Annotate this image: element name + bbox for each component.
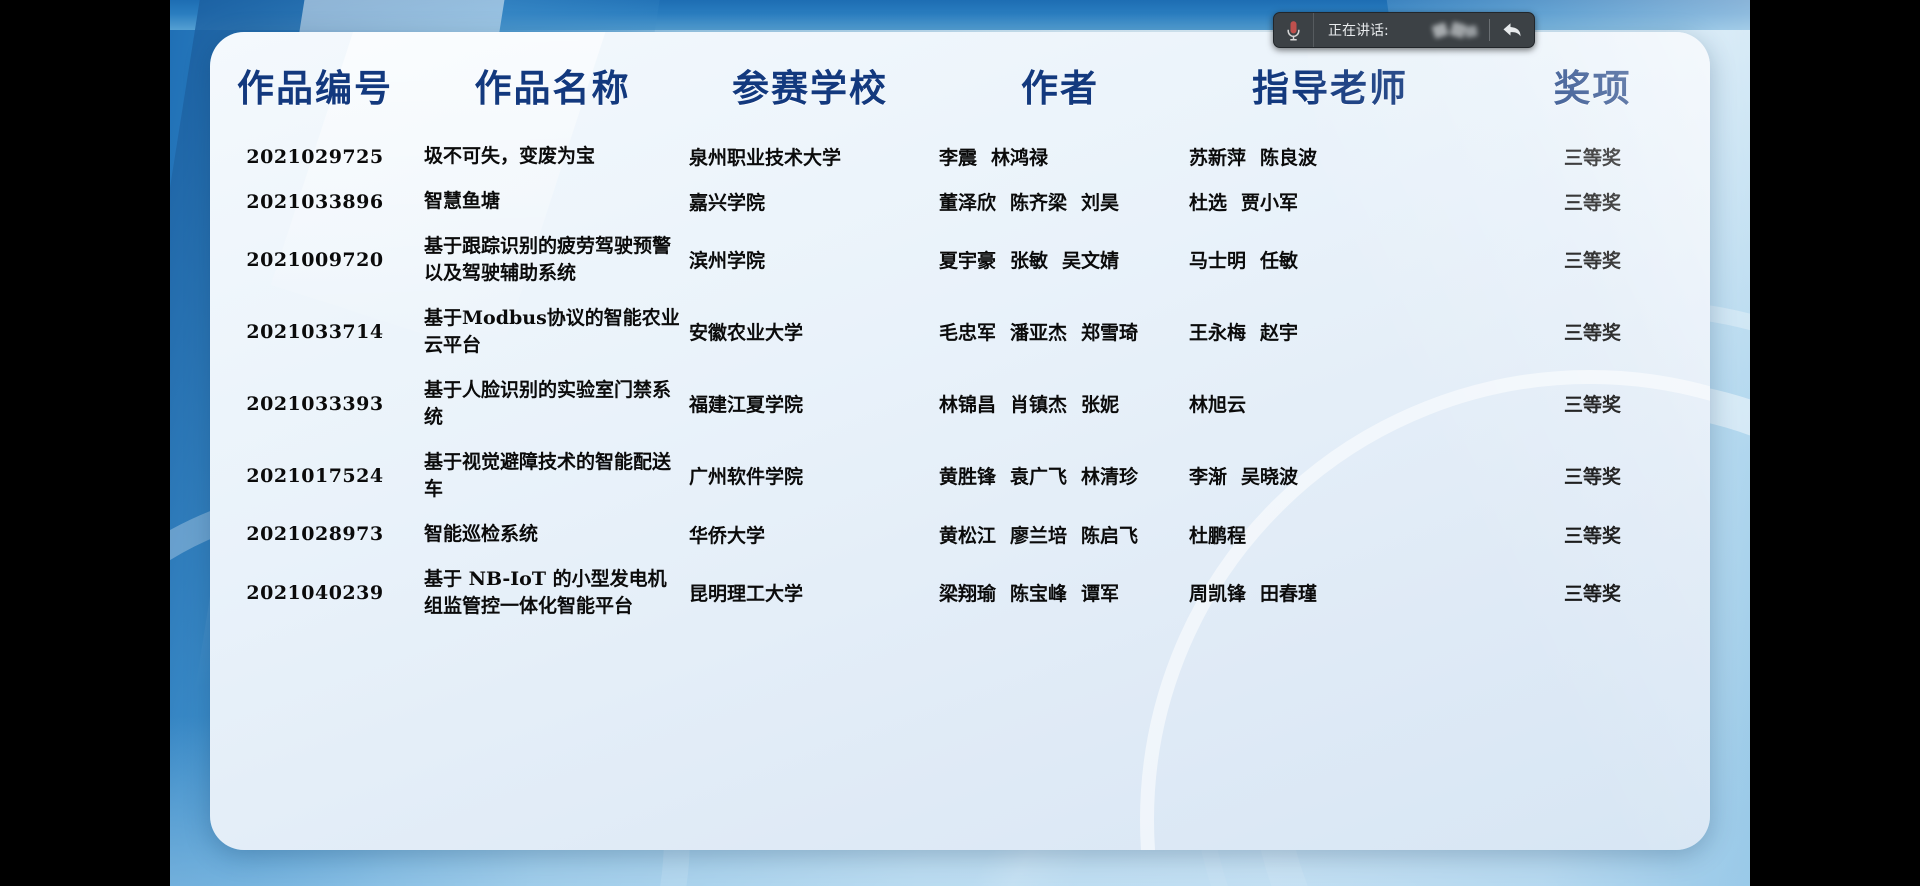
column-header-school: 参赛学校 <box>685 32 935 134</box>
cell-id: 2021009720 <box>210 224 420 296</box>
screen-share-stage: 作品编号 作品名称 参赛学校 作者 指导老师 奖项 2021029725圾不可失… <box>0 0 1920 886</box>
award-list-table: 作品编号 作品名称 参赛学校 作者 指导老师 奖项 2021029725圾不可失… <box>210 32 1710 629</box>
cell-school: 嘉兴学院 <box>685 179 935 224</box>
cell-award: 三等奖 <box>1475 179 1710 224</box>
table-row: 2021028973智能巡检系统华侨大学黄松江廖兰培陈启飞杜鹏程三等奖 <box>210 512 1710 557</box>
cell-authors: 夏宇豪张敏吴文婧 <box>935 224 1185 296</box>
cell-teachers: 王永梅赵宇 <box>1185 296 1475 368</box>
cell-id: 2021029725 <box>210 134 420 179</box>
cell-school: 昆明理工大学 <box>685 557 935 629</box>
cell-name: 基于 NB-IoT 的小型发电机组监管控一体化智能平台 <box>420 557 685 629</box>
cell-id: 2021017524 <box>210 440 420 512</box>
cell-name: 智能巡检系统 <box>420 512 685 557</box>
blurred-controls-icon[interactable] <box>1423 13 1489 47</box>
cell-school: 福建江夏学院 <box>685 368 935 440</box>
microphone-icon[interactable] <box>1274 13 1314 47</box>
cell-school: 华侨大学 <box>685 512 935 557</box>
cell-teachers: 李渐吴晓波 <box>1185 440 1475 512</box>
speaking-status-toolbar[interactable]: 正在讲话: <box>1273 12 1535 48</box>
table-row: 2021040239基于 NB-IoT 的小型发电机组监管控一体化智能平台昆明理… <box>210 557 1710 629</box>
cell-award: 三等奖 <box>1475 368 1710 440</box>
cell-id: 2021033896 <box>210 179 420 224</box>
cell-teachers: 周凯锋田春瑾 <box>1185 557 1475 629</box>
cell-teachers: 林旭云 <box>1185 368 1475 440</box>
cell-name: 基于视觉避障技术的智能配送车 <box>420 440 685 512</box>
cell-id: 2021033393 <box>210 368 420 440</box>
cell-award: 三等奖 <box>1475 224 1710 296</box>
shared-slide-viewport: 作品编号 作品名称 参赛学校 作者 指导老师 奖项 2021029725圾不可失… <box>170 0 1750 886</box>
column-header-name: 作品名称 <box>420 32 685 134</box>
cell-authors: 黄胜锋袁广飞林清珍 <box>935 440 1185 512</box>
cell-school: 安徽农业大学 <box>685 296 935 368</box>
cell-award: 三等奖 <box>1475 557 1710 629</box>
cell-authors: 毛忠军潘亚杰郑雪琦 <box>935 296 1185 368</box>
cell-school: 泉州职业技术大学 <box>685 134 935 179</box>
table-row: 2021029725圾不可失，变废为宝泉州职业技术大学李震林鸿禄苏新萍陈良波三等… <box>210 134 1710 179</box>
cell-teachers: 马士明任敏 <box>1185 224 1475 296</box>
cell-teachers: 杜鹏程 <box>1185 512 1475 557</box>
cell-id: 2021040239 <box>210 557 420 629</box>
cell-award: 三等奖 <box>1475 134 1710 179</box>
cell-name: 圾不可失，变废为宝 <box>420 134 685 179</box>
cell-award: 三等奖 <box>1475 512 1710 557</box>
cell-award: 三等奖 <box>1475 440 1710 512</box>
cell-authors: 梁翔瑜陈宝峰谭军 <box>935 557 1185 629</box>
cell-authors: 李震林鸿禄 <box>935 134 1185 179</box>
cell-authors: 董泽欣陈齐梁刘昊 <box>935 179 1185 224</box>
table-row: 2021033896智慧鱼塘嘉兴学院董泽欣陈齐梁刘昊杜选贾小军三等奖 <box>210 179 1710 224</box>
table-row: 2021009720基于跟踪识别的疲劳驾驶预警以及驾驶辅助系统滨州学院夏宇豪张敏… <box>210 224 1710 296</box>
cell-school: 广州软件学院 <box>685 440 935 512</box>
table-body: 2021029725圾不可失，变废为宝泉州职业技术大学李震林鸿禄苏新萍陈良波三等… <box>210 134 1710 629</box>
cell-name: 基于Modbus协议的智能农业云平台 <box>420 296 685 368</box>
column-header-id: 作品编号 <box>210 32 420 134</box>
table-row: 2021033714基于Modbus协议的智能农业云平台安徽农业大学毛忠军潘亚杰… <box>210 296 1710 368</box>
cell-id: 2021028973 <box>210 512 420 557</box>
cell-id: 2021033714 <box>210 296 420 368</box>
speaking-status-label: 正在讲话: <box>1314 20 1423 40</box>
slide-content-card: 作品编号 作品名称 参赛学校 作者 指导老师 奖项 2021029725圾不可失… <box>210 32 1710 850</box>
cell-name: 基于跟踪识别的疲劳驾驶预警以及驾驶辅助系统 <box>420 224 685 296</box>
table-row: 2021033393基于人脸识别的实验室门禁系统福建江夏学院林锦昌肖镇杰张妮林旭… <box>210 368 1710 440</box>
cell-teachers: 杜选贾小军 <box>1185 179 1475 224</box>
cell-name: 智慧鱼塘 <box>420 179 685 224</box>
cell-authors: 黄松江廖兰培陈启飞 <box>935 512 1185 557</box>
cell-award: 三等奖 <box>1475 296 1710 368</box>
cell-name: 基于人脸识别的实验室门禁系统 <box>420 368 685 440</box>
table-row: 2021017524基于视觉避障技术的智能配送车广州软件学院黄胜锋袁广飞林清珍李… <box>210 440 1710 512</box>
back-arrow-icon[interactable] <box>1490 13 1534 47</box>
cell-school: 滨州学院 <box>685 224 935 296</box>
cell-authors: 林锦昌肖镇杰张妮 <box>935 368 1185 440</box>
cell-teachers: 苏新萍陈良波 <box>1185 134 1475 179</box>
column-header-author: 作者 <box>935 32 1185 134</box>
